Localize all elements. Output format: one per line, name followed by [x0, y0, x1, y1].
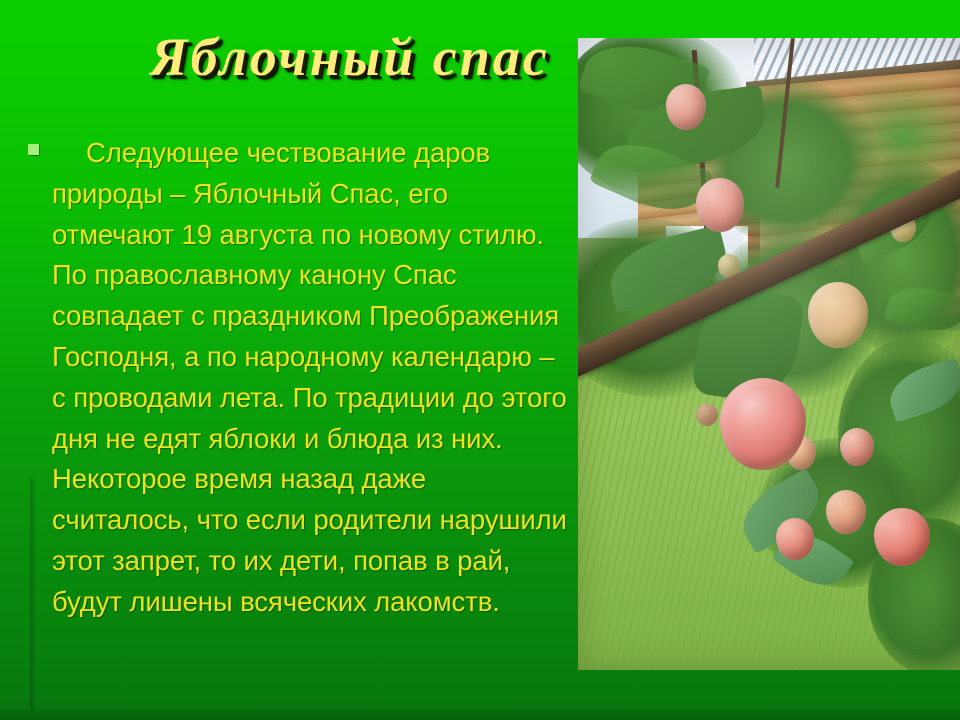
apple: [776, 518, 814, 560]
square-bullet-icon: [28, 144, 39, 155]
apple-tree-photo: [578, 38, 960, 670]
apple: [840, 428, 874, 466]
apple: [808, 282, 868, 348]
presentation-slide: Яблочный спас Следующее чествование даро…: [0, 0, 960, 720]
slide-body-text: Следующее чествование даров природы – Яб…: [28, 133, 568, 623]
list-item: Следующее чествование даров природы – Яб…: [28, 133, 568, 623]
apple: [696, 178, 744, 232]
apple-foreground: [720, 378, 806, 470]
apple: [666, 84, 706, 130]
apple: [696, 404, 718, 426]
apple: [874, 508, 930, 566]
bottom-edge-shadow: [0, 710, 960, 720]
apple: [826, 490, 866, 534]
bullet-paragraph: Следующее чествование даров природы – Яб…: [52, 133, 568, 623]
